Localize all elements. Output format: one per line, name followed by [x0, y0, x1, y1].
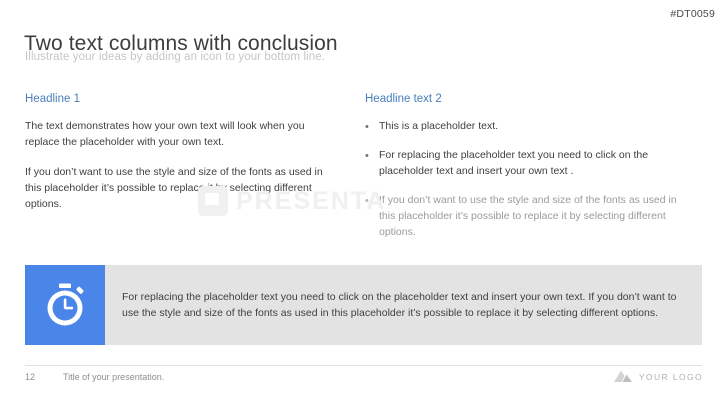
- conclusion-band: For replacing the placeholder text you n…: [25, 265, 702, 345]
- page-subtitle: Illustrate your ideas by adding an icon …: [25, 51, 325, 63]
- stopwatch-icon: [42, 282, 88, 328]
- list-item: This is a placeholder text.: [365, 119, 685, 135]
- list-item: If you don’t want to use the style and s…: [365, 193, 685, 241]
- conclusion-text: For replacing the placeholder text you n…: [105, 265, 702, 345]
- logo: YOUR LOGO: [613, 369, 703, 384]
- slide: #DT0059 Two text columns with conclusion…: [0, 0, 727, 409]
- conclusion-icon-box: [25, 265, 105, 345]
- right-column-bullet-list: This is a placeholder text. For replacin…: [365, 119, 685, 241]
- left-column: Headline 1 The text demonstrates how you…: [25, 93, 325, 227]
- left-column-heading: Headline 1: [25, 93, 325, 105]
- list-item: For replacing the placeholder text you n…: [365, 148, 685, 180]
- document-code: #DT0059: [670, 8, 715, 20]
- logo-mark-icon: [613, 369, 633, 384]
- right-column: Headline text 2 This is a placeholder te…: [365, 93, 685, 254]
- right-column-heading: Headline text 2: [365, 93, 685, 105]
- left-column-paragraph-2: If you don’t want to use the style and s…: [25, 165, 325, 213]
- logo-text: YOUR LOGO: [639, 372, 703, 382]
- footer-divider: [25, 365, 702, 366]
- footer-title: Title of your presentation.: [63, 372, 164, 382]
- left-column-paragraph-1: The text demonstrates how your own text …: [25, 119, 325, 151]
- page-number: 12: [25, 372, 35, 382]
